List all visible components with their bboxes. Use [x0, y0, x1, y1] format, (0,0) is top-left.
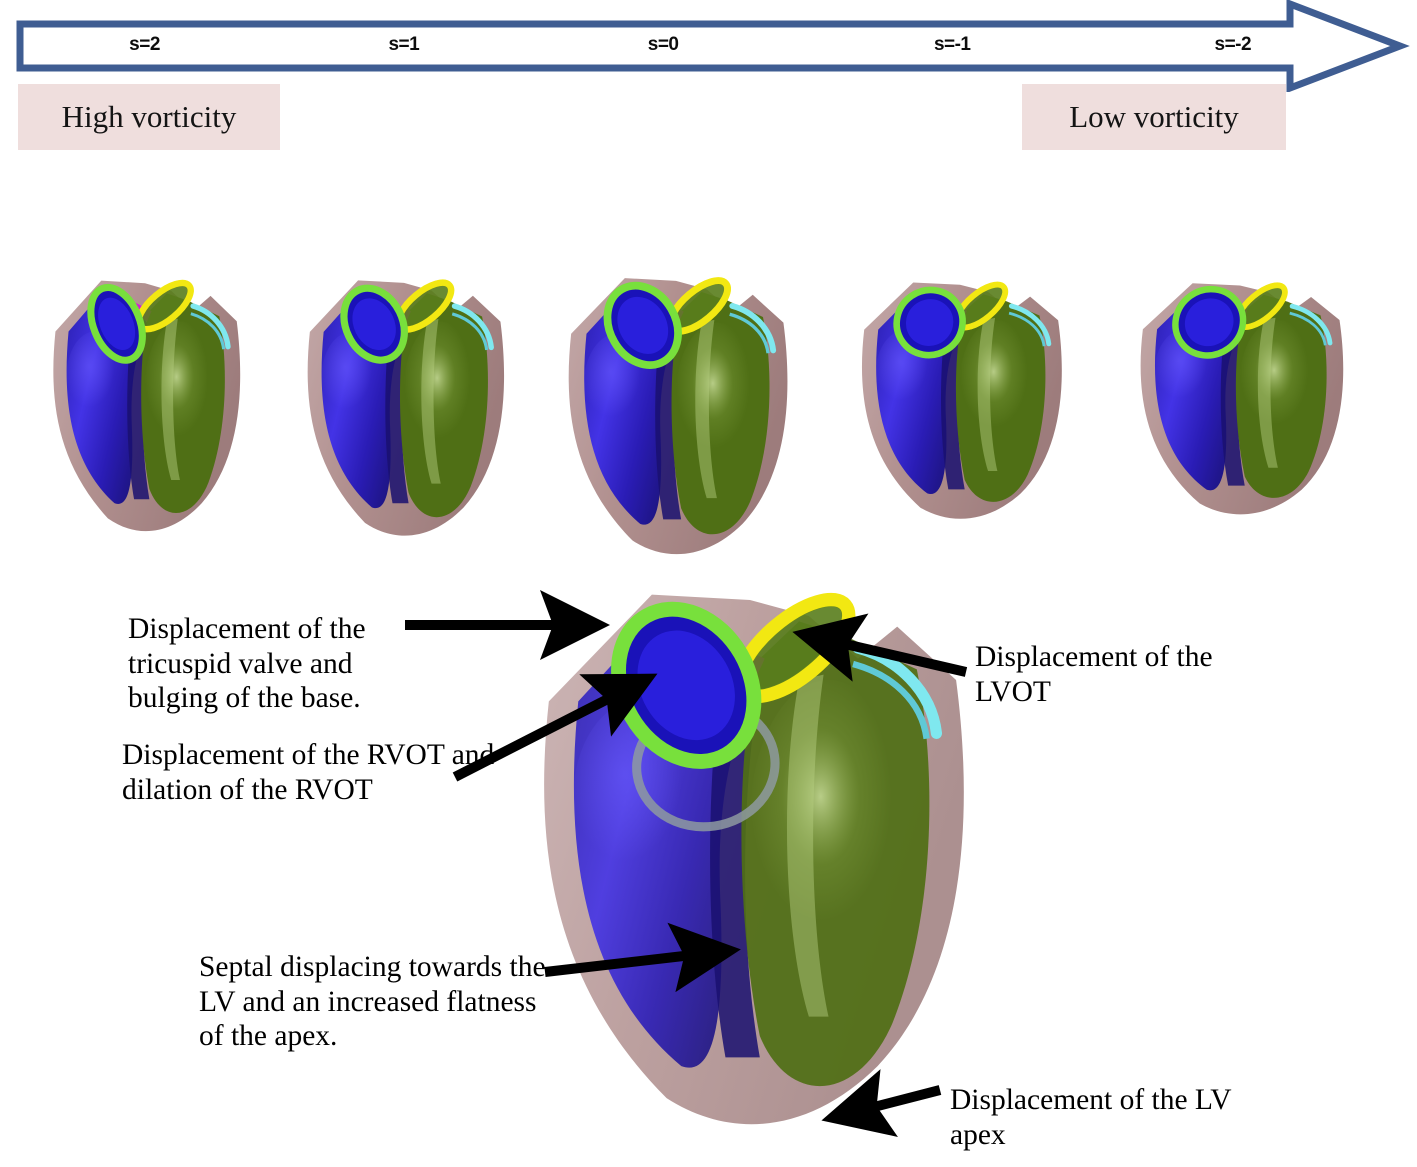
arrow-outline [20, 4, 1400, 88]
heart-model-sneg2 [1125, 242, 1355, 541]
lv-highlight [145, 321, 215, 453]
annotation-tricuspid-valve: Displacement of the tricuspid valve and … [128, 612, 428, 716]
low-vorticity-label: Low vorticity [1022, 99, 1286, 135]
heart-model-s2 [18, 235, 272, 565]
heart-model-s=-2 [1125, 242, 1355, 536]
spectrum-arrow-shape [0, 0, 1417, 92]
heart-model-s=0 [470, 520, 1030, 1160]
tick-label-sm2: s=-2 [1215, 34, 1252, 56]
heart-model-detail [470, 520, 1030, 1160]
tick-label-s2: s=2 [129, 34, 160, 56]
annotation-septal: Septal displacing towards the LV and an … [199, 950, 559, 1054]
heart-model-sneg1 [842, 240, 1078, 547]
heart-model-row [0, 208, 1417, 538]
heart-model-s1 [275, 234, 533, 569]
heart-model-s=1 [275, 234, 533, 564]
lv-highlight [960, 320, 1035, 443]
annotation-lv-apex: Displacement of the LV apex [950, 1083, 1290, 1152]
tick-label-sm1: s=-1 [934, 34, 971, 56]
tick-label-s0: s=0 [648, 34, 679, 56]
lv-highlight [404, 321, 477, 455]
lv-highlight [1240, 320, 1316, 440]
lv-highlight [750, 680, 907, 957]
lv-highlight [676, 323, 758, 468]
heart-model-s=-1 [842, 240, 1078, 542]
high-vorticity-label: High vorticity [18, 99, 280, 135]
heart-model-s=2 [18, 235, 272, 560]
vorticity-spectrum-arrow: s=2 s=1 s=0 s=-1 s=-2 [0, 0, 1417, 92]
tick-label-s1: s=1 [388, 34, 419, 56]
low-vorticity-label-box: Low vorticity [1022, 84, 1286, 150]
high-vorticity-label-box: High vorticity [18, 84, 280, 150]
annotation-lvot: Displacement of the LVOT [975, 640, 1275, 709]
annotation-rvot: Displacement of the RVOT and dilation of… [122, 738, 502, 807]
